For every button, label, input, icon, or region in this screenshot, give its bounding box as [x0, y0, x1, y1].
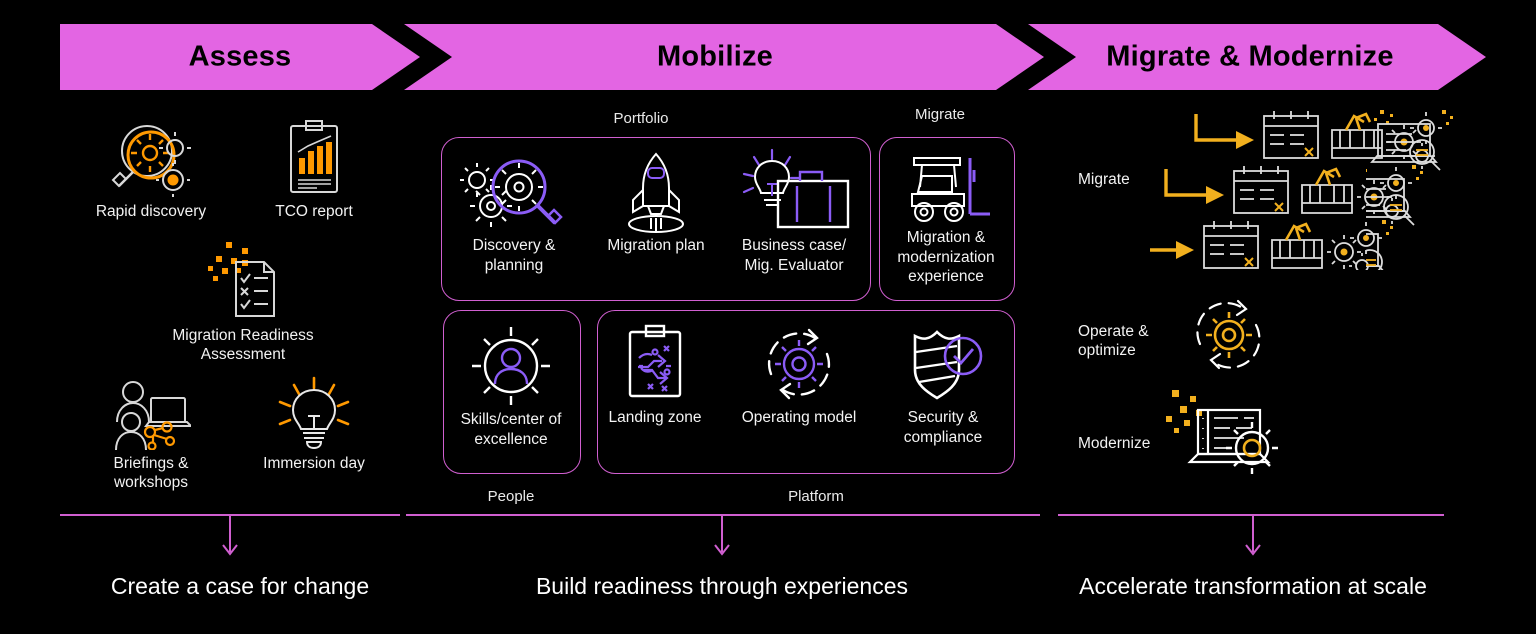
- platform-item-operating-model[interactable]: Operating model: [740, 322, 858, 428]
- platform-item-landing-zone[interactable]: Landing zone: [603, 322, 707, 428]
- portfolio-item-label: Business case/ Mig. Evaluator: [726, 236, 862, 275]
- laptop-code-gear-icon: [1160, 386, 1280, 478]
- platform-item-label: Security & compliance: [884, 408, 1002, 447]
- portfolio-item-label: Migration plan: [600, 236, 712, 256]
- phase-label-mobilize: Mobilize: [404, 41, 1044, 74]
- clipboard-bar-chart-icon: [283, 118, 345, 198]
- migration-journey-diagram: Assess Mobilize Migrate & Modernize: [0, 0, 1536, 634]
- platform-item-security-compliance[interactable]: Security & compliance: [884, 322, 1002, 447]
- laptop-search-icons-group: [1366, 108, 1476, 270]
- portfolio-item-business-case[interactable]: Business case/ Mig. Evaluator: [726, 148, 862, 275]
- checklist-document-icon: [200, 238, 286, 322]
- assess-item-label: Rapid discovery: [72, 202, 230, 221]
- assess-item-label: Migration Readiness Assessment: [150, 326, 336, 364]
- phase-label-assess: Assess: [60, 41, 420, 74]
- magnifier-gears-icon: [459, 150, 569, 234]
- down-arrow-mobilize: [711, 514, 733, 560]
- gear-person-icon: [467, 324, 555, 408]
- clipboard-strategy-icon: [622, 322, 688, 406]
- portfolio-item-migration-plan[interactable]: Migration plan: [600, 150, 712, 256]
- people-laptop-icon: [111, 378, 191, 450]
- assess-item-label: TCO report: [248, 202, 380, 221]
- group-label-platform: Platform: [746, 488, 886, 505]
- lightbulb-icon: [272, 376, 356, 450]
- mm-row-label-operate-optimize: Operate & optimize: [1078, 322, 1198, 360]
- rocket-icon: [610, 150, 702, 234]
- platform-item-label: Operating model: [740, 408, 858, 428]
- magnifier-gears-icon: [105, 118, 197, 198]
- phase-segment-mobilize[interactable]: Mobilize: [404, 24, 1044, 90]
- assess-item-rapid-discovery[interactable]: Rapid discovery: [72, 118, 230, 221]
- lightbulb-briefcase-icon: [734, 148, 854, 234]
- down-arrow-assess: [219, 514, 241, 560]
- assess-item-label: Immersion day: [248, 454, 380, 473]
- phase-segment-migrate-modernize[interactable]: Migrate & Modernize: [1028, 24, 1486, 90]
- portfolio-item-discovery-planning[interactable]: Discovery & planning: [452, 150, 576, 275]
- people-item-skills-center-of-excellence[interactable]: Skills/center of excellence: [449, 324, 573, 449]
- group-label-migrate: Migrate: [862, 106, 1018, 123]
- platform-item-label: Landing zone: [603, 408, 707, 428]
- portfolio-item-label: Discovery & planning: [452, 236, 576, 275]
- assess-item-label: Briefings & workshops: [86, 454, 216, 492]
- assess-item-tco-report[interactable]: TCO report: [248, 118, 380, 221]
- people-item-label: Skills/center of excellence: [449, 410, 573, 449]
- outcome-migrate-modernize: Accelerate transformation at scale: [1003, 573, 1503, 600]
- forklift-icon: [898, 152, 994, 226]
- phase-label-migrate-modernize: Migrate & Modernize: [1028, 41, 1486, 74]
- gear-refresh-icon: [1186, 294, 1272, 376]
- phase-segment-assess[interactable]: Assess: [60, 24, 420, 90]
- assess-item-migration-readiness-assessment[interactable]: Migration Readiness Assessment: [150, 238, 336, 364]
- migrate-item-label: Migration & modernization experience: [884, 228, 1008, 287]
- phase-ribbon: Assess Mobilize Migrate & Modernize: [0, 24, 1536, 90]
- assess-item-briefings-workshops[interactable]: Briefings & workshops: [86, 378, 216, 492]
- group-label-people: People: [441, 488, 581, 505]
- outcome-mobilize: Build readiness through experiences: [452, 573, 992, 600]
- outcome-assess: Create a case for change: [30, 573, 450, 600]
- gear-refresh-icon: [755, 322, 843, 406]
- migrate-item-migration-modernization-experience[interactable]: Migration & modernization experience: [884, 152, 1008, 287]
- group-label-portfolio: Portfolio: [541, 110, 741, 127]
- assess-item-immersion-day[interactable]: Immersion day: [248, 376, 380, 473]
- shield-check-icon: [899, 322, 987, 406]
- down-arrow-migrate: [1242, 514, 1264, 560]
